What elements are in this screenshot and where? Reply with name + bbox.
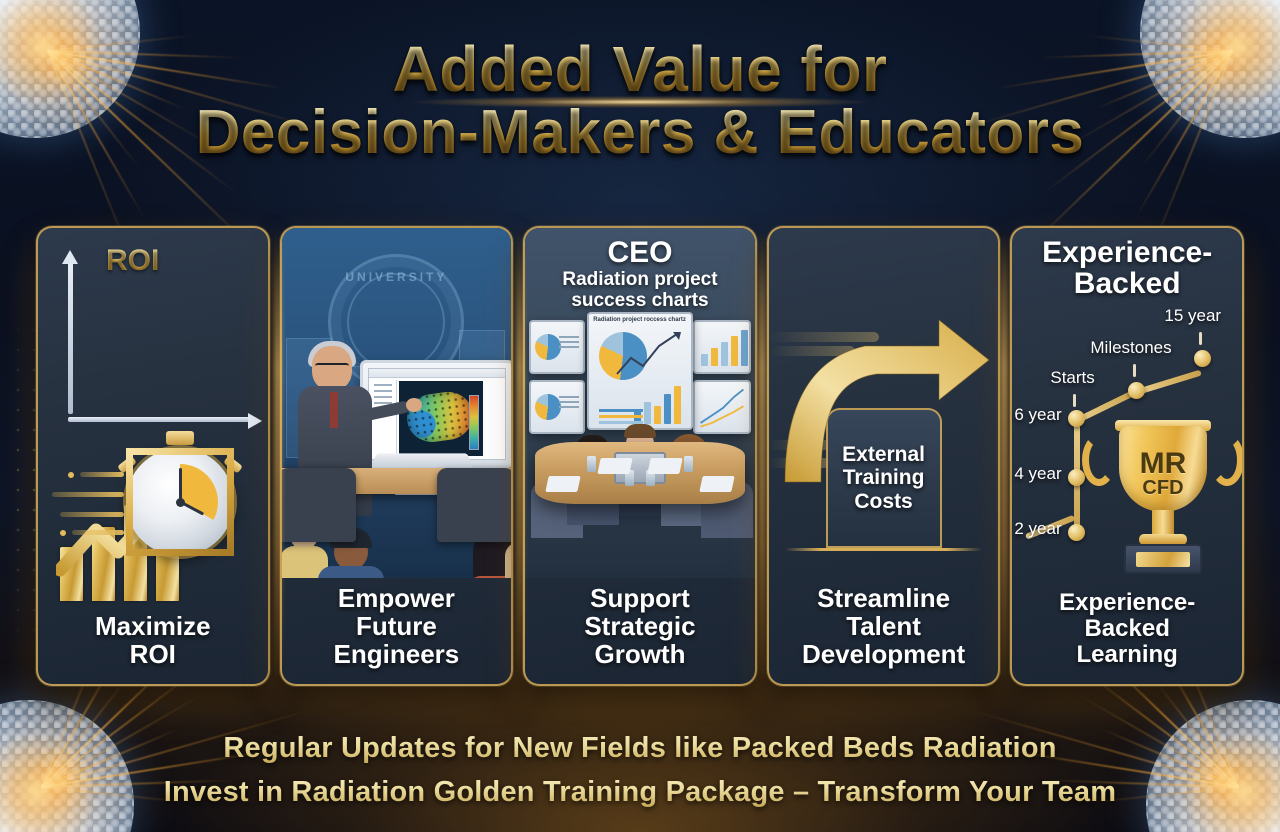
timeline-tick bbox=[1133, 364, 1136, 377]
card-empower-future-engineers[interactable]: UNIVERSITY bbox=[280, 226, 514, 686]
curved-arrow-icon bbox=[769, 298, 999, 488]
card-experience-backed-learning[interactable]: Experience- Backed 2 year bbox=[1010, 226, 1244, 686]
card-header-line-1: CEO bbox=[525, 238, 755, 269]
card-header: CEO Radiation project success charts bbox=[525, 238, 755, 312]
trophy-icon: MR CFD bbox=[1098, 416, 1228, 584]
card-caption: Support Strategic Growth bbox=[525, 578, 755, 684]
footer-line-2: Invest in Radiation Golden Training Pack… bbox=[0, 771, 1280, 815]
side-chart-screen bbox=[529, 380, 585, 434]
document-icon bbox=[545, 476, 580, 492]
trophy-label-line-1: MR bbox=[1119, 450, 1207, 479]
timeline-tick bbox=[1199, 332, 1202, 345]
title-glow bbox=[410, 96, 870, 108]
stopwatch-icon bbox=[126, 448, 234, 556]
footer: Regular Updates for New Fields like Pack… bbox=[0, 727, 1280, 814]
card-header-line-3: success charts bbox=[525, 291, 755, 312]
card-caption: Empower Future Engineers bbox=[282, 578, 512, 684]
timeline-label-15-year: 15 year bbox=[1164, 306, 1221, 326]
roi-label: ROI bbox=[106, 244, 159, 278]
water-glass-icon bbox=[684, 456, 693, 472]
card-caption: Maximize ROI bbox=[38, 606, 268, 684]
seal-label: UNIVERSITY bbox=[326, 270, 466, 284]
card-art-bypass: External Training Costs bbox=[769, 228, 999, 578]
timeline-label-starts: Starts bbox=[1050, 368, 1094, 388]
speed-lines-icon bbox=[46, 468, 124, 540]
main-chart-screen: Radiation project roccess chartz bbox=[587, 312, 693, 430]
card-header-line-2: Backed bbox=[1012, 269, 1242, 300]
footer-line-1: Regular Updates for New Fields like Pack… bbox=[0, 727, 1280, 771]
card-art-classroom: UNIVERSITY bbox=[282, 228, 512, 578]
document-icon bbox=[597, 458, 632, 474]
card-streamline-talent-development[interactable]: External Training Costs Streamline Talen… bbox=[767, 226, 1001, 686]
trophy-label-line-2: CFD bbox=[1119, 479, 1207, 498]
infographic-poster: Added Value for Decision-Makers & Educat… bbox=[0, 0, 1280, 832]
timeline-node bbox=[1128, 382, 1145, 399]
timeline-label-milestones: Milestones bbox=[1090, 338, 1171, 358]
title-line-1: Added Value for bbox=[0, 38, 1280, 101]
timeline-tick bbox=[1073, 394, 1076, 407]
card-art-roi: ROI bbox=[38, 228, 268, 606]
card-header-line-2: Radiation project bbox=[525, 270, 755, 291]
timeline-node bbox=[1194, 350, 1211, 367]
water-glass-icon bbox=[587, 456, 596, 472]
board-title: Radiation project roccess chartz bbox=[589, 314, 691, 323]
side-chart-screen bbox=[693, 320, 751, 374]
side-chart-screen bbox=[529, 320, 585, 374]
card-header: Experience- Backed bbox=[1012, 238, 1242, 299]
document-icon bbox=[647, 458, 682, 474]
timeline-node bbox=[1068, 524, 1085, 541]
card-support-strategic-growth[interactable]: CEO Radiation project success charts bbox=[523, 226, 757, 686]
ground-line bbox=[785, 548, 983, 551]
trophy-label: MR CFD bbox=[1119, 450, 1207, 498]
timeline-label-6-year: 6 year bbox=[1014, 405, 1061, 425]
side-chart-screen bbox=[693, 380, 751, 434]
timeline-label-4-year: 4 year bbox=[1014, 464, 1061, 484]
card-art-boardroom: CEO Radiation project success charts bbox=[525, 228, 755, 578]
card-caption: Experience- Backed Learning bbox=[1012, 584, 1242, 684]
card-header-line-1: Experience- bbox=[1012, 238, 1242, 269]
document-icon bbox=[699, 476, 734, 492]
card-maximize-roi[interactable]: ROI bbox=[36, 226, 270, 686]
card-art-timeline: Experience- Backed 2 year bbox=[1012, 228, 1242, 584]
timeline-label-2-year: 2 year bbox=[1014, 519, 1061, 539]
card-caption: Streamline Talent Development bbox=[769, 578, 999, 684]
value-card-list: ROI bbox=[36, 226, 1244, 686]
title-line-2: Decision-Makers & Educators bbox=[0, 103, 1280, 164]
chart-axes-icon bbox=[68, 262, 250, 422]
